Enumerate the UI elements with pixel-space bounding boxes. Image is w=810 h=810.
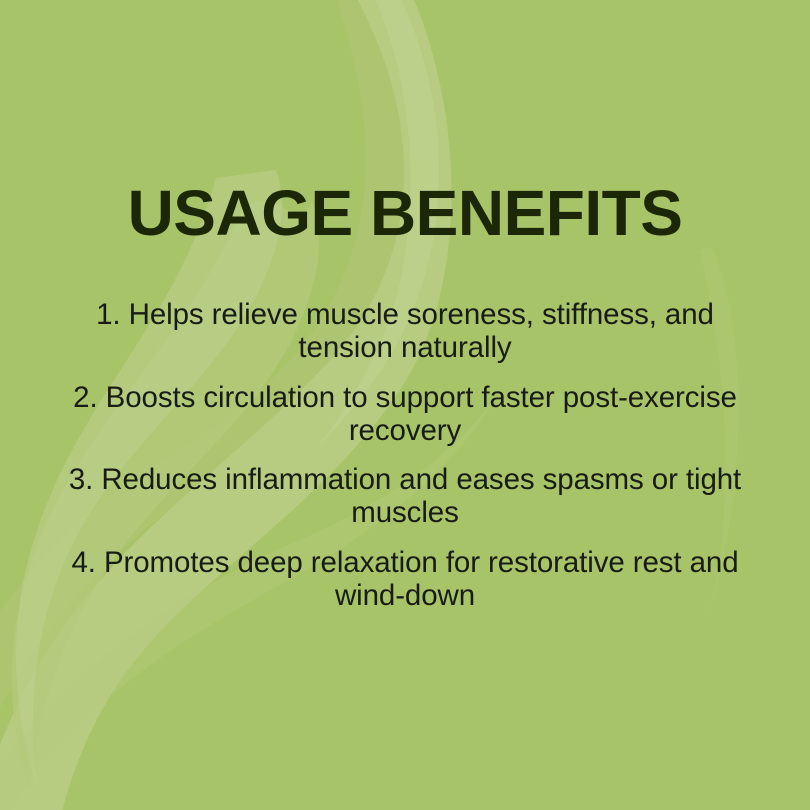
page-title: USAGE BENEFITS — [0, 181, 810, 245]
usage-benefits-poster: USAGE BENEFITS 1. Helps relieve muscle s… — [0, 0, 810, 810]
benefit-item-4: 4. Promotes deep relaxation for restorat… — [55, 546, 755, 612]
benefit-item-3: 3. Reduces inflammation and eases spasms… — [55, 463, 755, 529]
poster-content: USAGE BENEFITS 1. Helps relieve muscle s… — [0, 0, 810, 810]
benefit-item-1: 1. Helps relieve muscle soreness, stiffn… — [55, 298, 755, 364]
benefits-list: 1. Helps relieve muscle soreness, stiffn… — [55, 298, 755, 612]
benefit-item-2: 2. Boosts circulation to support faster … — [55, 381, 755, 447]
